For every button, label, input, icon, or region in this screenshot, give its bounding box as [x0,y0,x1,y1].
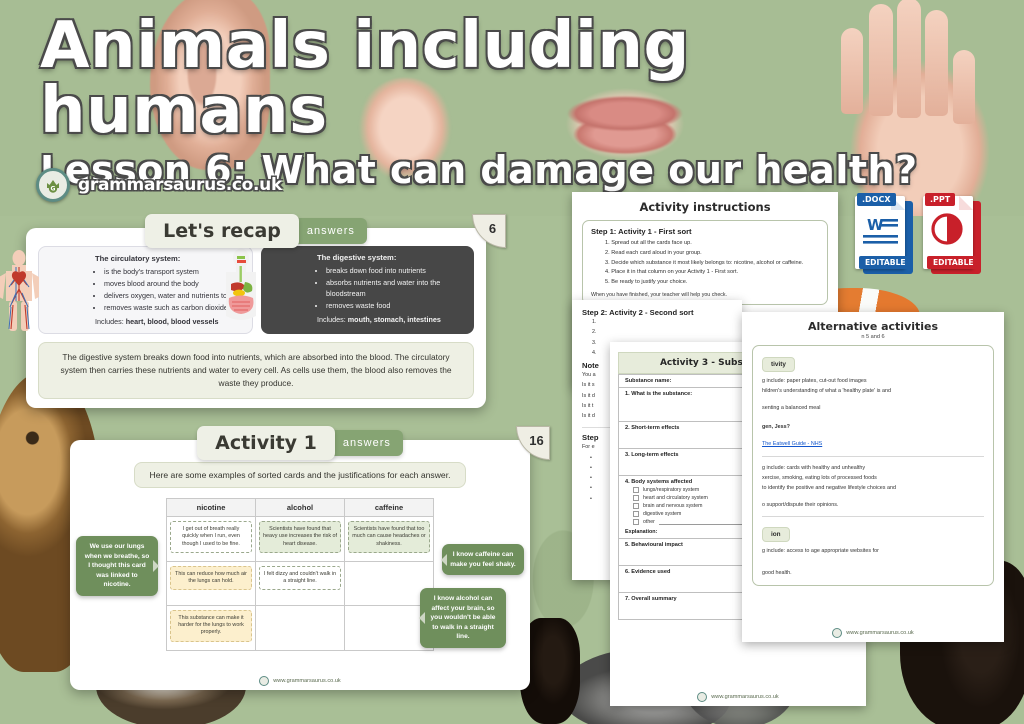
activity1-footer: www.grammarsaurus.co.uk [70,676,530,686]
alt-footer: www.grammarsaurus.co.uk [742,628,1004,638]
digestive-card: The digestive system: breaks down food i… [261,246,474,334]
callout-alcohol: I know alcohol can affect your brain, so… [420,588,506,648]
sorted-cards-table: nicotine alcohol caffeine I get out of b… [166,498,434,651]
checkbox-label: other [643,519,655,525]
case-file-footer: www.grammarsaurus.co.uk [610,692,866,702]
alt-subtitle: n 5 and 6 [742,334,1004,340]
list-item: breaks down food into nutrients [326,266,466,277]
docx-editable-label: EDITABLE [859,256,912,269]
ppt-tag: .PPT [925,193,955,206]
alt-line: to identify the positive and negative li… [762,483,984,493]
page-title: Animals including humans [40,14,1000,145]
arrow-left-icon [413,612,425,624]
recap-title-row: Let's recap answers [26,214,486,248]
alt-line: g include: access to age appropriate web… [762,546,984,556]
alternative-activities-document[interactable]: Alternative activities n 5 and 6 tivity … [742,312,1004,642]
activity1-title-row: Activity 1 answers [70,426,530,460]
alt-line: xercise, smoking, eating lots of process… [762,473,984,483]
screenshot-root: Animals including humans Lesson 6: What … [0,0,1024,724]
checkbox-label: digestive system [643,511,681,517]
callout-caffeine: I know caffeine can make you feel shaky. [442,544,524,575]
list-item: 5. Be ready to justify your choice. [605,278,819,288]
grammarsaurus-icon [259,676,269,686]
cell-caffeine: Scientists have found that too much can … [345,517,434,562]
recap-body: The circulatory system: is the body's tr… [38,246,474,398]
includes-label: Includes: [317,315,346,324]
sorted-card[interactable]: Scientists have found that heavy use inc… [259,521,341,553]
column-header-alcohol: alcohol [256,499,345,517]
alt-line: g include: cards with healthy and unheal… [762,463,984,473]
alt-line: good health. [762,568,984,578]
alt-card: tivity g include: paper plates, cut-out … [752,345,994,586]
list-item: 3. Decide which substance it most likely… [605,259,819,269]
file-format-badges: W .DOCX EDITABLE .PPT [855,196,981,274]
checkbox-icon[interactable] [633,487,639,493]
step2-num-2: 2. [592,327,732,337]
instructions-title: Activity instructions [572,192,838,220]
checkbox-icon[interactable] [633,519,639,525]
list-item: 4. Place it in that column on your Activ… [605,268,819,278]
alt-line: senting a balanced meal [762,403,984,413]
sorted-card[interactable]: This can reduce how much air the lungs c… [170,566,252,591]
digestive-includes: Includes: mouth, stomach, intestines [317,315,466,326]
cell-alcohol: I felt dizzy and couldn't walk in a stra… [256,561,345,605]
recap-slide[interactable]: 6 Let's recap answers [26,228,486,408]
instructions-step-list: 1. Spread out all the cards face up. 2. … [605,239,819,288]
footer-url: www.grammarsaurus.co.uk [846,630,913,636]
docx-badge[interactable]: W .DOCX EDITABLE [855,196,913,274]
checkbox-label: lungs/respiratory system [643,487,699,493]
footer-url: www.grammarsaurus.co.uk [273,678,340,684]
ppt-editable-label: EDITABLE [927,256,980,269]
checkbox-icon[interactable] [633,503,639,509]
arrow-left-icon [435,554,447,566]
docx-tag: .DOCX [857,193,896,206]
sorted-card[interactable]: This substance can make it harder for th… [170,610,252,642]
header-banner: Animals including humans Lesson 6: What … [0,0,1024,216]
arrow-right-icon [153,560,165,572]
brand-text: grammarsaurus.co.uk [78,175,282,195]
callout-text: I know caffeine can make you feel shaky. [450,551,515,568]
column-header-caffeine: caffeine [345,499,434,517]
recap-summary: The digestive system breaks down food in… [38,342,474,399]
alt-line: o support/dispute their opinions. [762,500,984,510]
sorted-card[interactable]: I felt dizzy and couldn't walk in a stra… [259,566,341,591]
list-item: absorbs nutrients and water into the blo… [326,278,466,300]
eatwell-guide-link[interactable]: The Eatwell Guide - NHS [762,441,822,447]
cell-alcohol: Scientists have found that heavy use inc… [256,517,345,562]
activity1-intro: Here are some examples of sorted cards a… [134,462,465,488]
sorted-card[interactable]: Scientists have found that too much can … [348,521,430,553]
callout-text: We use our lungs when we breathe, so I t… [85,543,150,588]
grammarsaurus-icon [697,692,707,702]
brand-letter: G [51,186,56,193]
alt-line: hildren's understanding of what a 'healt… [762,386,984,396]
sorted-card[interactable]: I get out of breath really quickly when … [170,521,252,553]
instructions-step1-box: Step 1: Activity 1 - First sort 1. Sprea… [582,220,828,305]
instructions-step1-heading: Step 1: Activity 1 - First sort [591,227,819,236]
alt-question-1: gen, Jess? [762,422,984,432]
instructions-note: When you have finished, your teacher wil… [591,292,819,298]
footer-url: www.grammarsaurus.co.uk [711,694,778,700]
digestive-bullets: breaks down food into nutrients absorbs … [326,266,466,311]
step2-heading: Step 2: Activity 2 - Second sort [582,308,732,317]
checkbox-icon[interactable] [633,495,639,501]
includes-values: mouth, stomach, intestines [348,315,441,324]
column-header-nicotine: nicotine [167,499,256,517]
checkbox-icon[interactable] [633,511,639,517]
checkbox-label: brain and nervous system [643,503,702,509]
alt-pill-2: ion [762,527,790,542]
circulatory-system-diagram [0,249,45,335]
grammarsaurus-icon [832,628,842,638]
callout-text: I know alcohol can affect your brain, so… [431,595,496,640]
list-item: removes waste food [326,301,466,312]
digestive-heading: The digestive system: [317,252,466,263]
grammarsaurus-icon: G [36,168,70,202]
alt-pill-1: tivity [762,357,795,372]
table-row: This substance can make it harder for th… [167,605,434,650]
callout-nicotine: We use our lungs when we breathe, so I t… [76,536,158,596]
alt-line: g include: paper plates, cut-out food im… [762,376,984,386]
table-header-row: nicotine alcohol caffeine [167,499,434,517]
divider [762,456,984,457]
systems-row: The circulatory system: is the body's tr… [38,246,474,334]
header-titles: Animals including humans Lesson 6: What … [40,14,1000,189]
activity1-slide[interactable]: 16 Activity 1 answers Here are some exam… [70,440,530,690]
recap-title: Let's recap [145,214,299,248]
checkbox-label: heart and circulatory system [643,495,708,501]
step2-num-1: 1. [592,317,732,327]
brand-logo: G grammarsaurus.co.uk [36,168,282,202]
digestive-system-diagram [215,248,267,334]
includes-label: Includes: [95,317,124,326]
table-row: This can reduce how much air the lungs c… [167,561,434,605]
divider [762,516,984,517]
ppt-badge[interactable]: .PPT EDITABLE [923,196,981,274]
cell-nicotine: This substance can make it harder for th… [167,605,256,650]
includes-values: heart, blood, blood vessels [126,317,219,326]
table-row: I get out of breath really quickly when … [167,517,434,562]
cell-nicotine: This can reduce how much air the lungs c… [167,561,256,605]
cell-alcohol [256,605,345,650]
alt-title: Alternative activities [742,312,1004,334]
list-item: 2. Read each card aloud in your group. [605,249,819,259]
cell-nicotine: I get out of breath really quickly when … [167,517,256,562]
list-item: 1. Spread out all the cards face up. [605,239,819,249]
activity1-title: Activity 1 [197,426,335,460]
